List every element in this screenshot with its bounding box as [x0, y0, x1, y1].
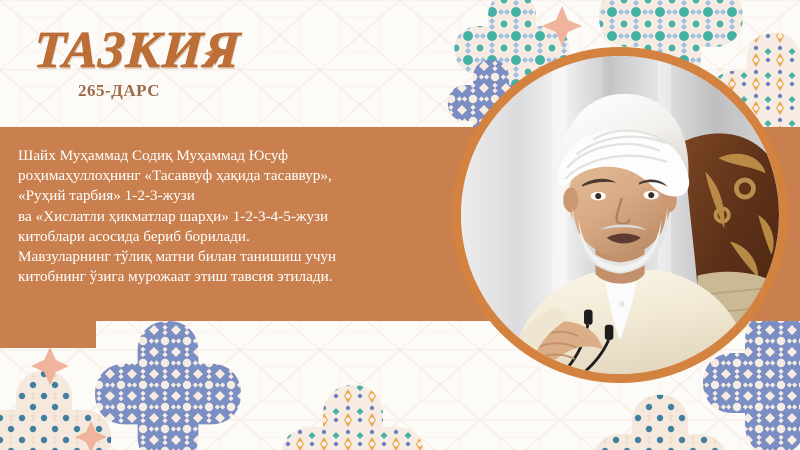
description-line: «Руҳий тарбия» 1-2-3-жузи [18, 186, 443, 206]
description-line: китоблари асосида бериб борилади. [18, 227, 443, 247]
description-line: ва «Хислатли ҳикматлар шарҳи» 1-2-3-4-5-… [18, 207, 443, 227]
poster-canvas: ТАЗКИЯ 265-ДАРС Шайх Муҳаммад Содиқ Муҳа… [0, 0, 800, 450]
page-title: ТАЗКИЯ [32, 24, 416, 79]
description-line: роҳимаҳуллоҳнинг «Тасаввуф ҳақида тасавв… [18, 166, 443, 186]
portrait-photo [461, 56, 779, 374]
title-block: ТАЗКИЯ 265-ДАРС [34, 24, 414, 101]
description-line: Мавзуларнинг тўлиқ матни билан танишиш у… [18, 247, 443, 267]
lesson-number-label: 265-ДАРС [78, 81, 414, 101]
description-line: Шайх Муҳаммад Содиқ Муҳаммад Юсуф [18, 146, 443, 166]
description-line: китобнинг ўзига мурожаат этиш тавсия эти… [18, 267, 443, 287]
motif-orange-bottom [278, 382, 428, 450]
description-text: Шайх Муҳаммад Содиқ Муҳаммад Юсуф роҳима… [18, 146, 443, 288]
motif-blue-large-left [92, 318, 244, 450]
portrait-photo-frame [452, 47, 788, 383]
